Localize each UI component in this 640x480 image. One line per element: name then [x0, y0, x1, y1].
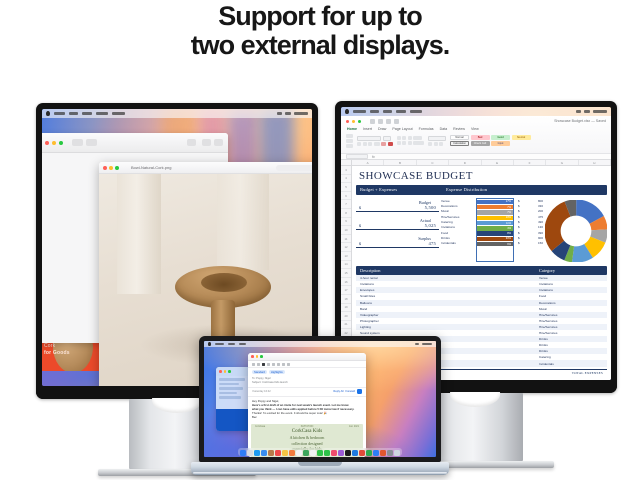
paste-icon[interactable] [346, 134, 353, 138]
font-size-select[interactable] [383, 136, 391, 141]
section-expense-distribution: Expense Distribution [446, 187, 603, 192]
distribution-label: Food [441, 231, 474, 235]
copy-icon[interactable] [346, 144, 353, 148]
close-icon[interactable] [346, 120, 349, 123]
align-bottom-icon[interactable] [408, 136, 412, 140]
cell-category: Hire/Services [539, 331, 603, 335]
menubar-item-edit[interactable] [383, 110, 392, 113]
row-header[interactable]: 17 [341, 286, 351, 295]
italic-icon[interactable] [363, 142, 367, 146]
row-header[interactable]: 3 [341, 166, 351, 175]
mail-meta-row[interactable]: Yesterday 16:42 Reply All Forward [248, 388, 366, 397]
card-corner-left: CorkCasa [255, 426, 265, 428]
row-header[interactable]: 19 [341, 304, 351, 313]
cell-description: Invitations [360, 282, 539, 286]
dock-icon-mail[interactable] [261, 450, 267, 456]
table-header-description: Description [360, 268, 539, 273]
card-corner-center: INVITATION [301, 426, 314, 428]
cell-description: Band [360, 307, 539, 311]
wrap-text-button[interactable] [413, 136, 422, 140]
distribution-amount: $390 [516, 231, 543, 235]
zoom-icon[interactable] [115, 166, 119, 170]
row-header[interactable]: 7 [341, 200, 351, 209]
font-color-icon[interactable] [388, 142, 393, 146]
distribution-bar: 7% [477, 210, 513, 214]
menubar-item-insert[interactable] [410, 110, 422, 113]
row-header[interactable]: 5 [341, 183, 351, 192]
style-bad[interactable]: Bad [471, 135, 490, 140]
tag-standard[interactable]: Standard [252, 370, 267, 374]
ribbon[interactable]: Normal Bad Good Neutral Calculation Chec… [341, 131, 611, 149]
wifi-icon[interactable] [415, 343, 419, 345]
dock-icon-photos[interactable] [310, 450, 316, 456]
mail-format-bar[interactable] [248, 361, 366, 368]
minimize-icon[interactable] [52, 141, 56, 145]
menubar-item-mail[interactable] [215, 343, 224, 345]
distribution-label: Incidentals [441, 241, 474, 245]
align-icon[interactable] [282, 363, 285, 366]
cell-description: Sound system [360, 331, 539, 335]
row-header[interactable]: 11 [341, 235, 351, 244]
align-top-icon[interactable] [397, 136, 401, 140]
row-header[interactable]: 4 [341, 175, 351, 184]
row-header[interactable]: 9 [341, 218, 351, 227]
distribution-label: Catering [441, 220, 474, 224]
tab-review[interactable]: Review [453, 127, 465, 131]
card-title: CorkCasa Kids [292, 429, 322, 435]
close-icon[interactable] [45, 141, 49, 145]
column-header-d[interactable]: D [449, 160, 481, 165]
forward-link[interactable]: Forward [345, 390, 355, 393]
dock-icon-contacts[interactable] [268, 450, 274, 456]
cell-category: Venue [539, 276, 603, 280]
mail-signoff: Bec [252, 415, 362, 419]
row-header[interactable]: 14 [341, 261, 351, 270]
distribution-label: Hire/Services [441, 215, 474, 219]
bold-icon[interactable] [262, 363, 265, 366]
style-neutral[interactable]: Neutral [512, 135, 531, 140]
distribution-bar: 6% [477, 242, 513, 246]
laptop-notch [298, 462, 342, 466]
tool-share-icon[interactable] [187, 139, 196, 146]
wifi-icon[interactable] [576, 110, 581, 113]
minimize-icon[interactable] [224, 370, 227, 373]
distribution-bar: 11% [477, 221, 513, 225]
cell-category: Drinks [539, 337, 603, 341]
dock-icon-facetime[interactable] [324, 450, 330, 456]
photo-window-titlebar[interactable]: Bowl-Natural-Cork.png [99, 162, 312, 174]
zoom-icon[interactable] [59, 141, 63, 145]
dock-icon-podcasts[interactable] [338, 450, 344, 456]
mail-subject-line[interactable]: Subject: CorkCasa Kids launch [252, 381, 362, 384]
distribution-amount: $150 [516, 241, 543, 245]
style-check-cell[interactable]: Check Cell [471, 141, 490, 146]
laptop-screen: Standard Highlights To: Poppy, Nigel Sub… [204, 341, 436, 457]
row-header[interactable]: 12 [341, 243, 351, 252]
cell-description: 4-hour rental [360, 276, 539, 280]
dock-icon-calendar[interactable] [275, 450, 281, 456]
ribbon-group-styles[interactable]: Normal Bad Good Neutral Calculation Chec… [450, 135, 531, 146]
battery-icon[interactable] [584, 110, 590, 113]
minimize-icon[interactable] [352, 120, 355, 123]
photo-window-title: Bowl-Natural-Cork.png [131, 165, 171, 170]
cell-description: Photographer [360, 319, 539, 323]
mail-window-titlebar[interactable] [248, 353, 366, 361]
cell-category: Hire/Services [539, 325, 603, 329]
dock-icon-trash[interactable] [394, 450, 400, 456]
expense-distribution-chart: VenueDecorationsMusicHire/ServicesCateri… [441, 198, 543, 262]
close-icon[interactable] [251, 355, 254, 358]
autosave-icon[interactable] [394, 119, 399, 124]
menubar-item-edit[interactable] [239, 343, 246, 345]
cell-category: Food [539, 294, 603, 298]
distribution-label: Venue [441, 199, 474, 203]
number-format-select[interactable] [428, 136, 446, 141]
document-title: Showcase Budget.xlsx — Saved [554, 119, 606, 123]
menubar-right[interactable] [341, 107, 611, 116]
distribution-amounts: $800$330$200$475$490$130$390$900$150 [516, 198, 543, 262]
budget-metrics: Budget $ 5,500 Actual $ [356, 198, 439, 262]
menubar-item-file[interactable] [228, 343, 235, 345]
merge-center-button[interactable] [413, 141, 424, 145]
row-header[interactable]: 13 [341, 252, 351, 261]
tool-select-icon[interactable] [72, 139, 83, 146]
undo-icon[interactable] [378, 119, 383, 124]
laptop-front-edge [193, 472, 447, 474]
headline-line-2: two external displays. [191, 31, 450, 60]
mail-compose-window[interactable]: Standard Highlights To: Poppy, Nigel Sub… [248, 353, 366, 457]
table-header-category: Category [539, 268, 603, 273]
row-header[interactable]: 6 [341, 192, 351, 201]
zoom-icon[interactable] [228, 370, 231, 373]
quick-access-toolbar[interactable]: Showcase Budget.xlsx — Saved [341, 116, 611, 125]
card-subtitle-2: collection designed [292, 441, 323, 446]
section-budget-expenses: Budget + Expenses [360, 187, 446, 192]
tool-inspector-icon[interactable] [202, 139, 211, 146]
dock-icon-notes[interactable] [282, 450, 288, 456]
attach-icon[interactable] [287, 363, 290, 366]
zoom-icon[interactable] [358, 120, 361, 123]
cell-category: Invitations [539, 288, 603, 292]
bold-icon[interactable] [357, 142, 361, 146]
metric-budget: Budget $ 5,500 [356, 200, 439, 213]
column-header-g[interactable]: G [546, 160, 578, 165]
zoom-icon[interactable] [260, 355, 263, 358]
distribution-amount: $475 [516, 215, 543, 219]
tab-page-layout[interactable]: Page Layout [392, 127, 412, 131]
close-icon[interactable] [103, 166, 107, 170]
dock-icon-pages[interactable] [380, 450, 386, 456]
tab-home[interactable]: Home [347, 127, 357, 131]
distribution-label: Invitations [441, 225, 474, 229]
italic-icon[interactable] [267, 363, 270, 366]
metric-surplus: Surplus $ 475 [356, 236, 439, 249]
column-header-a[interactable]: A [352, 160, 384, 165]
cell-category: Decorations [539, 301, 603, 305]
style-calculation[interactable]: Calculation [450, 141, 469, 146]
ribbon-group-alignment[interactable] [397, 136, 425, 145]
metric-actual: Actual $ 5,025 [356, 218, 439, 231]
cell-category: Music [539, 307, 603, 311]
card-corner-right: Est. 2021 [349, 426, 359, 428]
tab-formulas[interactable]: Formulas [419, 127, 434, 131]
macbook-air: Standard Highlights To: Poppy, Nigel Sub… [191, 336, 449, 480]
card-subtitle-1: A kitchen & bedroom [290, 435, 325, 440]
mail-headers[interactable]: To: Poppy, Nigel Subject: CorkCasa Kids … [248, 376, 366, 387]
distribution-label: Music [441, 209, 474, 213]
tool-shape-icon[interactable] [86, 139, 97, 146]
product-scene: Support for up to two external displays. [0, 0, 640, 480]
select-all-corner[interactable] [341, 160, 352, 165]
laptop-base [191, 462, 449, 475]
row-header[interactable]: 10 [341, 226, 351, 235]
donut-svg [545, 200, 607, 262]
font-style-icon[interactable] [252, 363, 255, 366]
style-good[interactable]: Good [491, 135, 510, 140]
menubar-item-view[interactable] [396, 110, 406, 113]
dock-icon-appstore[interactable] [352, 450, 358, 456]
clock[interactable] [422, 343, 432, 345]
distribution-bar: 17% [477, 200, 513, 204]
dock-icon-messages[interactable] [317, 450, 323, 456]
design-window-titlebar[interactable] [42, 133, 228, 153]
dock-icon-reminders[interactable] [289, 450, 295, 456]
column-header-b[interactable]: B [384, 160, 416, 165]
section-headers: Budget + Expenses Expense Distribution [356, 185, 607, 195]
ribbon-group-font[interactable] [357, 136, 393, 146]
menubar-item-file[interactable] [370, 110, 379, 113]
cell-category: Hire/Services [539, 319, 603, 323]
distribution-amount: $200 [516, 209, 543, 213]
distribution-label: Decorations [441, 204, 474, 208]
dock-icon-news[interactable] [359, 450, 365, 456]
name-box[interactable] [346, 154, 368, 159]
row-header[interactable]: 16 [341, 278, 351, 287]
style-input[interactable]: Input [491, 141, 510, 146]
dock-icon-numbers[interactable] [366, 450, 372, 456]
list-icon[interactable] [277, 363, 280, 366]
comma-format-icon[interactable] [439, 142, 443, 146]
column-header-e[interactable]: E [482, 160, 514, 165]
distribution-amount: $330 [516, 204, 543, 208]
tab-insert[interactable]: Insert [363, 127, 372, 131]
mail-body[interactable]: Hey Poppy and Nigel, Here's a first draf… [248, 397, 366, 422]
distribution-amount: $130 [516, 225, 543, 229]
clock[interactable] [593, 110, 607, 113]
cell-category: Invitations [539, 282, 603, 286]
cell-description: Lighting [360, 325, 539, 329]
align-left-icon[interactable] [397, 141, 401, 145]
cell-category: Drinks [539, 349, 603, 353]
dock-icon-settings[interactable] [387, 450, 393, 456]
tag-highlights[interactable]: Highlights [269, 370, 285, 374]
mail-date: Yesterday 16:42 [252, 390, 271, 393]
cell-description: Videographer [360, 313, 539, 317]
dock-icon-music[interactable] [331, 450, 337, 456]
dock-icon-tv[interactable] [345, 450, 351, 456]
dock[interactable] [238, 448, 402, 456]
ribbon-group-clipboard[interactable] [346, 134, 353, 148]
distribution-bar: 30% [477, 237, 513, 241]
column-header-f[interactable]: F [514, 160, 546, 165]
mail-to-line[interactable]: To: Poppy, Nigel [252, 377, 362, 380]
dock-icon-keynote[interactable] [373, 450, 379, 456]
align-right-icon[interactable] [408, 141, 412, 145]
cell-category: Drinks [539, 343, 603, 347]
underline-icon[interactable] [272, 363, 275, 366]
redo-icon[interactable] [386, 119, 391, 124]
page-headline: Support for up to two external displays. [0, 0, 640, 72]
send-icon[interactable] [357, 389, 362, 394]
tab-data[interactable]: Data [440, 127, 448, 131]
formula-bar[interactable]: fx [341, 153, 611, 160]
headline-line-1: Support for up to [218, 2, 421, 31]
minimize-icon[interactable] [256, 355, 259, 358]
tool-more-icon[interactable] [214, 139, 223, 146]
cell-description: Balloons [360, 301, 539, 305]
menubar-item-excel[interactable] [353, 110, 366, 113]
spreadsheet-chrome: Showcase Budget.xlsx — Saved Home Insert… [341, 116, 611, 153]
underline-icon[interactable] [368, 142, 372, 146]
row-header[interactable]: 8 [341, 209, 351, 218]
percent-format-icon[interactable] [434, 142, 438, 146]
save-icon[interactable] [370, 119, 375, 124]
align-center-icon[interactable] [402, 141, 406, 145]
expense-donut-chart [545, 198, 607, 262]
budget-title: SHOWCASE BUDGET [359, 170, 607, 182]
close-icon[interactable] [219, 370, 222, 373]
font-name-select[interactable] [357, 136, 381, 141]
mail-tag-row[interactable]: Standard Highlights [248, 368, 366, 376]
distribution-bars: 17%7%7%10%11%4%8%30%6% [476, 198, 514, 262]
distribution-label: Drinks [441, 236, 474, 240]
tab-draw[interactable]: Draw [378, 127, 386, 131]
cell-description: Small bites [360, 294, 539, 298]
laptop-lid: Standard Highlights To: Poppy, Nigel Sub… [199, 336, 441, 462]
dock-icon-finder[interactable] [240, 450, 246, 456]
row-header[interactable]: 15 [341, 269, 351, 278]
distribution-amount: $490 [516, 220, 543, 224]
fill-color-icon[interactable] [381, 142, 386, 146]
currency-format-icon[interactable] [428, 142, 432, 146]
dock-icon-maps[interactable] [303, 450, 309, 456]
distribution-category-labels: VenueDecorationsMusicHire/ServicesCateri… [441, 198, 474, 262]
dock-icon-launchpad[interactable] [247, 450, 253, 456]
distribution-bar: 10% [477, 216, 513, 220]
cell-category: Catering [539, 355, 603, 359]
reply-all-link[interactable]: Reply All [333, 390, 343, 393]
distribution-amount: $800 [516, 199, 543, 203]
style-normal[interactable]: Normal [450, 135, 469, 140]
row-header[interactable]: 20 [341, 312, 351, 321]
cell-category: Hire/Services [539, 313, 603, 317]
search-input[interactable] [276, 165, 312, 171]
column-header-h[interactable]: H [579, 160, 611, 165]
expense-table-header: Description Category [356, 266, 607, 275]
cell-category: Incidentals [539, 362, 603, 366]
distribution-bar: 7% [477, 205, 513, 209]
apple-icon[interactable] [208, 342, 211, 346]
cut-icon[interactable] [346, 139, 353, 143]
align-middle-icon[interactable] [402, 136, 406, 140]
tab-view[interactable]: View [471, 127, 479, 131]
border-icon[interactable] [374, 142, 380, 146]
ribbon-group-number[interactable] [428, 136, 446, 146]
font-size-icon[interactable] [257, 363, 260, 366]
dock-icon-safari[interactable] [254, 450, 260, 456]
row-header[interactable]: 18 [341, 295, 351, 304]
function-icon[interactable]: fx [372, 155, 375, 159]
distribution-bar: 4% [477, 226, 513, 230]
distribution-amount: $900 [516, 236, 543, 240]
row-header[interactable]: 21 [341, 321, 351, 330]
menubar-laptop[interactable] [204, 341, 436, 347]
dock-icon-freeform[interactable] [296, 450, 302, 456]
apple-icon[interactable] [345, 109, 349, 114]
distribution-bar: 8% [477, 231, 513, 235]
cell-description: Envelopes [360, 288, 539, 292]
minimize-icon[interactable] [109, 166, 113, 170]
column-header-c[interactable]: C [417, 160, 449, 165]
